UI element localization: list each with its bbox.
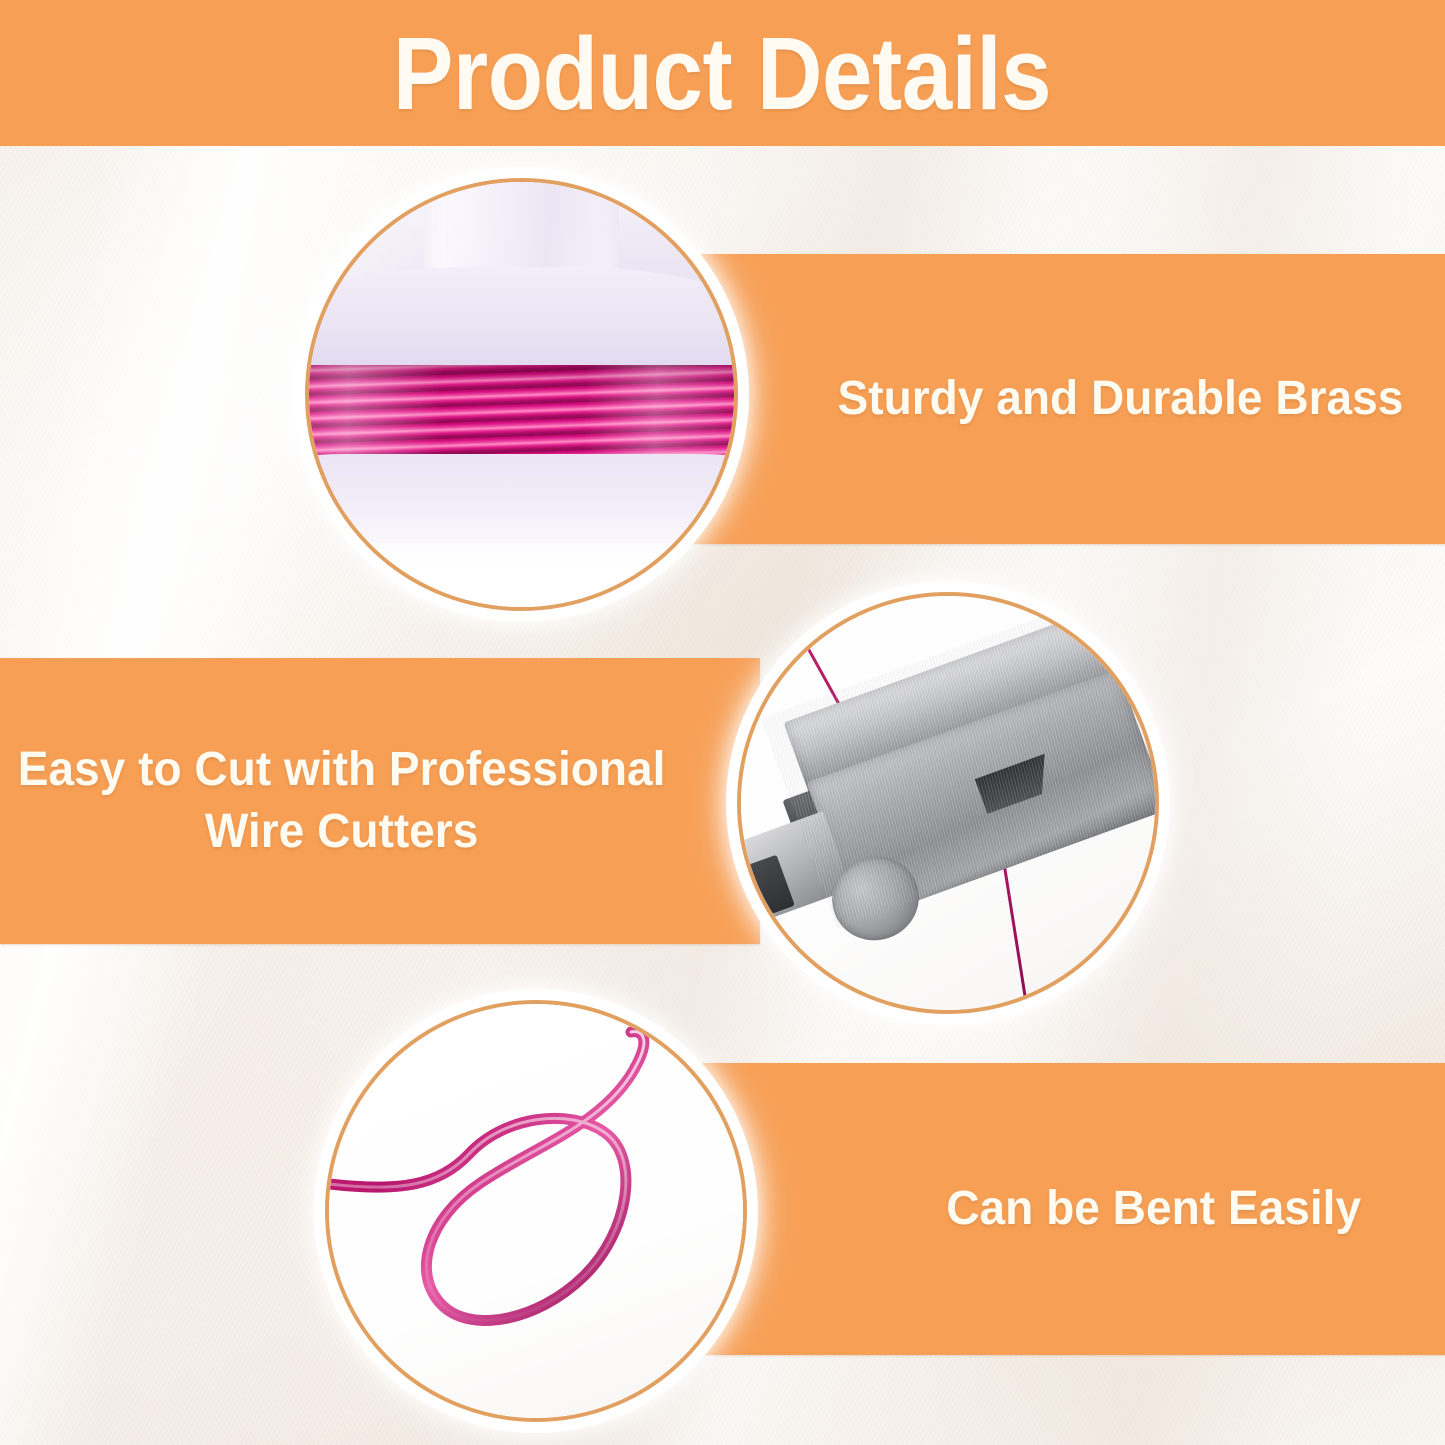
bent-wire-illustration [329, 1004, 743, 1418]
spool-upper-flange [305, 267, 738, 373]
wire-cutter-closeup-image [741, 596, 1155, 1010]
feature-1-image-circle [305, 178, 738, 611]
bent-wire-closeup-image [329, 1004, 743, 1418]
wire-spool-closeup-image [309, 182, 734, 607]
spool-bottom-shadow [309, 543, 734, 607]
feature-2-label: Easy to Cut with Professional Wire Cutte… [15, 739, 745, 864]
feature-band-2: Easy to Cut with Professional Wire Cutte… [0, 658, 760, 944]
feature-1-label: Sturdy and Durable Brass [631, 368, 1403, 430]
feature-3-image-circle [325, 1000, 747, 1422]
feature-band-3: Can be Bent Easily [700, 1063, 1445, 1355]
header-banner: Product Details [0, 0, 1445, 146]
page-title: Product Details [393, 22, 1051, 125]
product-details-infographic: Product Details Sturdy and Durable Brass… [0, 0, 1445, 1445]
feature-3-label: Can be Bent Easily [783, 1178, 1361, 1240]
feature-2-image-circle [737, 592, 1159, 1014]
